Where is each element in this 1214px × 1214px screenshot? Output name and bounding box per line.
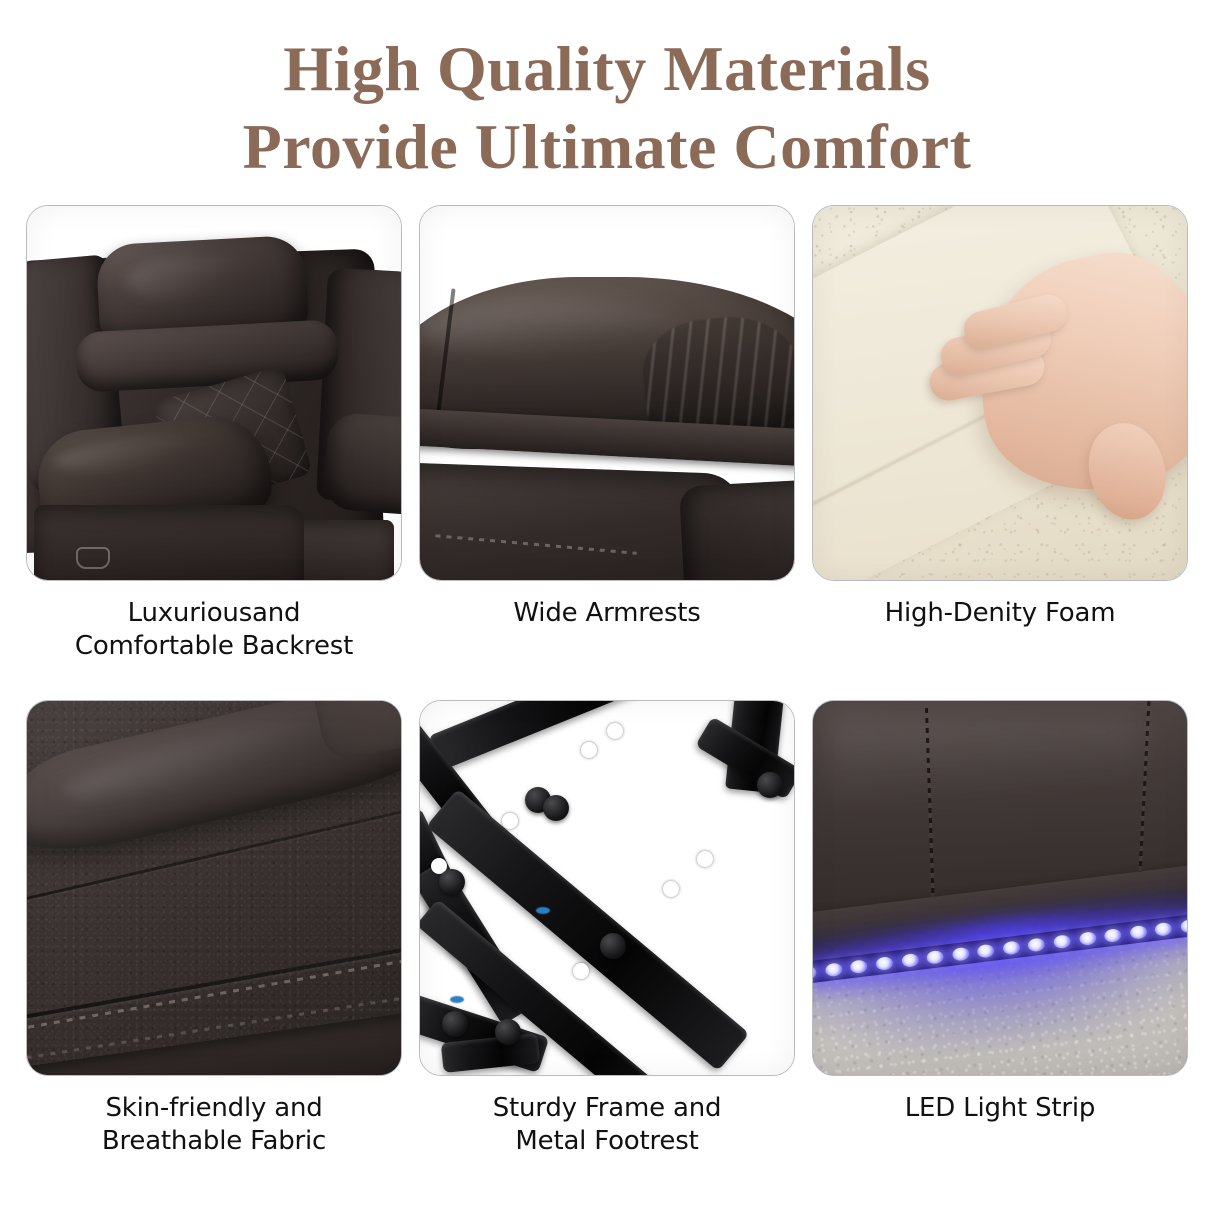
feature-photo-armrests xyxy=(419,205,795,581)
frame-hole xyxy=(697,851,713,867)
feature-caption-led: LED Light Strip xyxy=(812,1092,1188,1125)
armrest-closeup-illustration xyxy=(420,206,794,580)
led-dot xyxy=(1002,940,1020,955)
foam-block-illustration xyxy=(813,206,1187,580)
recliner-chair-illustration xyxy=(27,206,401,580)
feature-cell-fabric: Skin-friendly and Breathable Fabric xyxy=(26,700,402,1159)
led-dot xyxy=(901,952,919,967)
title-line-1: High Quality Materials xyxy=(0,30,1214,108)
led-dot xyxy=(1155,921,1173,936)
frame-hole xyxy=(573,963,589,979)
frame-hole xyxy=(502,813,518,829)
frame-rivet xyxy=(495,1019,521,1045)
caption-line-1: Sturdy Frame and xyxy=(419,1092,795,1125)
feature-cell-foam: High-Denity Foam xyxy=(812,205,1188,630)
led-dot xyxy=(813,965,818,980)
feature-photo-foam xyxy=(812,205,1188,581)
frame-rivet xyxy=(439,869,465,895)
frame-hole xyxy=(663,881,679,897)
caption-line-1: Wide Armrests xyxy=(419,597,795,630)
feature-caption-armrests: Wide Armrests xyxy=(419,597,795,630)
feature-cell-frame: Sturdy Frame and Metal Footrest xyxy=(419,700,795,1159)
led-dot xyxy=(850,958,868,973)
led-dot xyxy=(977,943,995,958)
frame-rivet xyxy=(600,933,626,959)
frame-upper-bar xyxy=(428,701,692,771)
caption-line-1: Skin-friendly and xyxy=(26,1092,402,1125)
caption-line-1: Luxuriousand xyxy=(26,597,402,630)
feature-photo-frame xyxy=(419,700,795,1076)
feature-caption-foam: High-Denity Foam xyxy=(812,597,1188,630)
infographic-page: High Quality Materials Provide Ultimate … xyxy=(0,0,1214,1214)
frame-blue-marking xyxy=(536,907,550,914)
chair-right-armrest xyxy=(323,412,402,516)
feature-row-1: Luxuriousand Comfortable Backrest xyxy=(0,205,1214,700)
frame-rivet xyxy=(543,795,569,821)
led-dot xyxy=(825,961,843,976)
led-dot xyxy=(1129,924,1147,939)
led-strip-illustration xyxy=(813,701,1187,1075)
led-dot xyxy=(952,946,970,961)
feature-photo-fabric xyxy=(26,700,402,1076)
frame-rivet xyxy=(757,772,783,798)
led-dot xyxy=(926,949,944,964)
caption-line-1: High-Denity Foam xyxy=(812,597,1188,630)
frame-hole xyxy=(607,723,623,739)
led-dot xyxy=(1028,936,1046,951)
chair-base-panel xyxy=(34,505,303,581)
frame-blue-marking xyxy=(450,996,464,1003)
feature-caption-fabric: Skin-friendly and Breathable Fabric xyxy=(26,1092,402,1159)
feature-caption-frame: Sturdy Frame and Metal Footrest xyxy=(419,1092,795,1159)
feature-photo-backrest xyxy=(26,205,402,581)
led-dot xyxy=(1104,927,1122,942)
feature-photo-led xyxy=(812,700,1188,1076)
led-dot xyxy=(1053,933,1071,948)
frame-hole xyxy=(581,742,597,758)
led-dot xyxy=(1180,918,1187,933)
feature-row-2: Skin-friendly and Breathable Fabric xyxy=(0,700,1214,1195)
chair-control-button-icon xyxy=(76,547,110,569)
metal-frame-illustration xyxy=(420,701,794,1075)
feature-cell-backrest: Luxuriousand Comfortable Backrest xyxy=(26,205,402,664)
feature-caption-backrest: Luxuriousand Comfortable Backrest xyxy=(26,597,402,664)
led-dot xyxy=(1079,930,1097,945)
feature-cell-armrests: Wide Armrests xyxy=(419,205,795,630)
title-line-2: Provide Ultimate Comfort xyxy=(0,108,1214,186)
armrest-front-panel xyxy=(679,479,795,581)
caption-line-2: Breathable Fabric xyxy=(26,1125,402,1158)
caption-line-1: LED Light Strip xyxy=(812,1092,1188,1125)
caption-line-2: Metal Footrest xyxy=(419,1125,795,1158)
caption-line-2: Comfortable Backrest xyxy=(26,630,402,663)
feature-cell-led: LED Light Strip xyxy=(812,700,1188,1125)
leather-fabric-illustration xyxy=(27,701,401,1075)
led-dot xyxy=(876,955,894,970)
page-title: High Quality Materials Provide Ultimate … xyxy=(0,30,1214,186)
feature-grid: Luxuriousand Comfortable Backrest xyxy=(0,205,1214,1195)
